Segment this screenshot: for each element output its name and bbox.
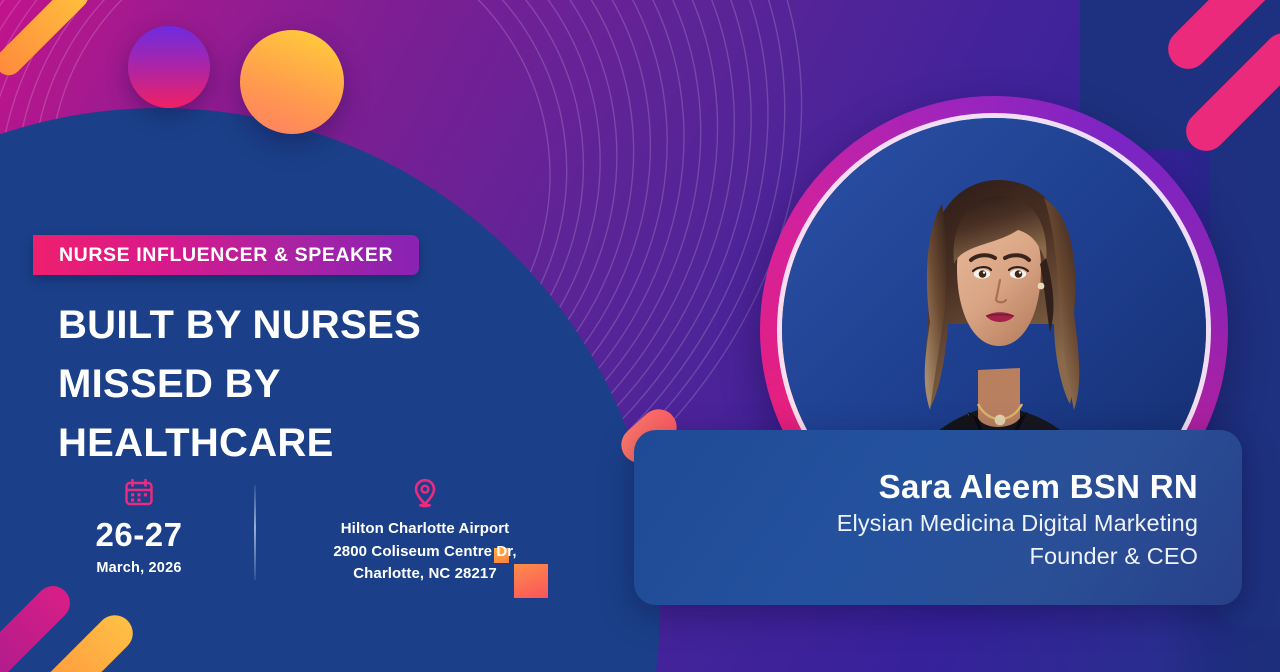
speaker-role-badge-label: NURSE INFLUENCER & SPEAKER: [59, 244, 393, 267]
event-location-line-2: 2800 Coliseum Centre Dr,: [280, 541, 570, 564]
headline-line-2: MISSED BY: [58, 355, 618, 414]
speaker-name-card: Sara Aleem BSN RN Elysian Medicina Digit…: [634, 430, 1242, 605]
headline-line-3: HEALTHCARE: [58, 414, 618, 473]
speaker-title: Founder & CEO: [634, 540, 1198, 572]
headline-line-1: BUILT BY NURSES: [58, 296, 618, 355]
location-pin-icon: [411, 478, 439, 508]
speaker-name: Sara Aleem BSN RN: [634, 466, 1198, 507]
event-promo-poster: NURSE INFLUENCER & SPEAKER BUILT BY NURS…: [0, 0, 1280, 672]
event-meta: 26-27 March, 2026 Hilton Charlotte Airpo…: [58, 478, 618, 588]
event-date-month-year: March, 2026: [64, 560, 214, 576]
event-location-line-3: Charlotte, NC 28217: [280, 563, 570, 586]
left-content-column: NURSE INFLUENCER & SPEAKER BUILT BY NURS…: [0, 0, 640, 672]
page-title: BUILT BY NURSES MISSED BY HEALTHCARE: [58, 296, 618, 472]
event-date-days: 26-27: [64, 518, 214, 551]
event-location-block: Hilton Charlotte Airport 2800 Coliseum C…: [280, 478, 570, 586]
speaker-role-badge: NURSE INFLUENCER & SPEAKER: [33, 235, 419, 275]
event-date-block: 26-27 March, 2026: [64, 478, 214, 576]
event-location-line-1: Hilton Charlotte Airport: [280, 518, 570, 541]
calendar-icon: [124, 478, 154, 508]
speaker-company: Elysian Medicina Digital Marketing: [634, 507, 1198, 539]
meta-divider: [254, 485, 256, 580]
